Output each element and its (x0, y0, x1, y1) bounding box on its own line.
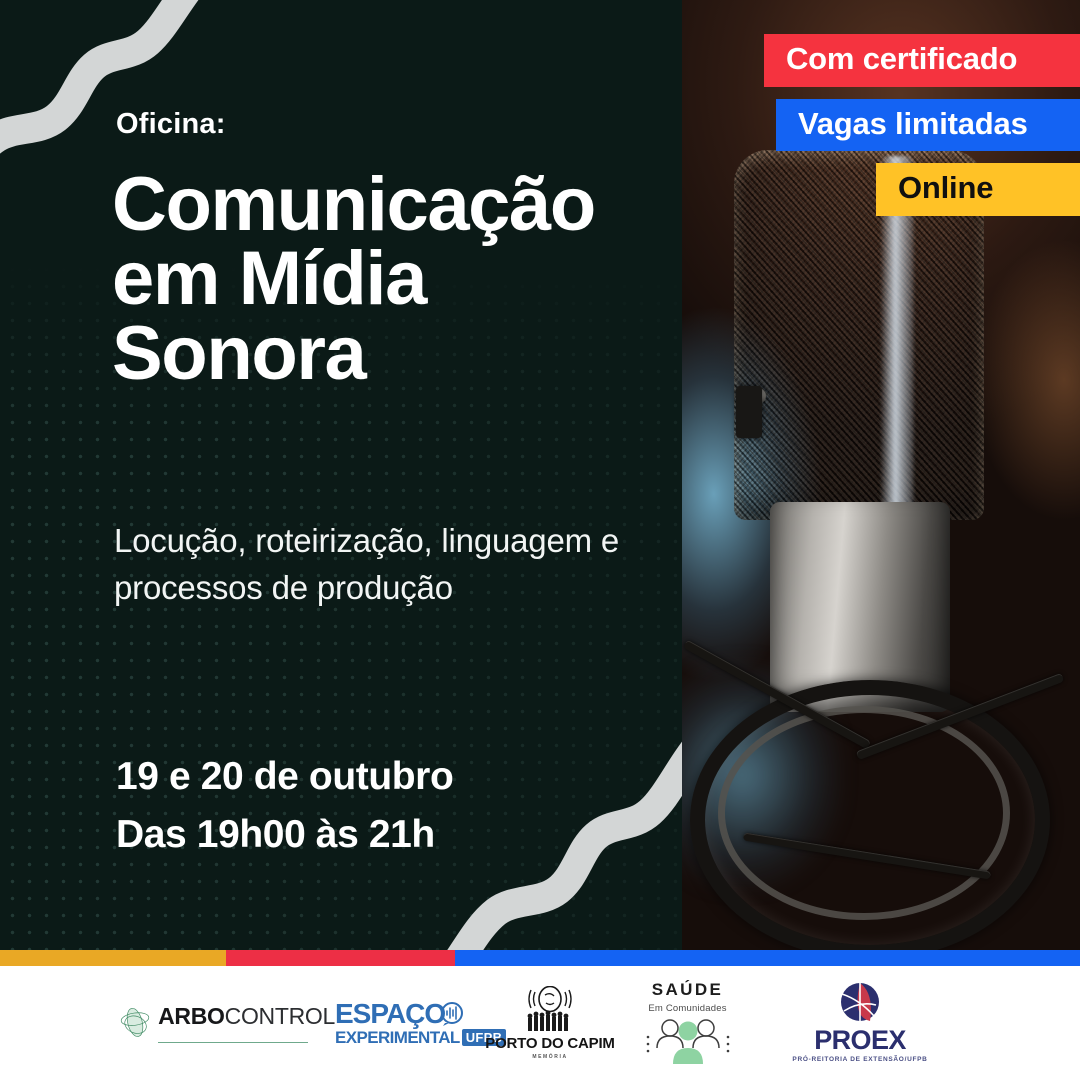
logo-espaco-experimental: ESPAÇO EXPERIMENTAL UFPB (335, 1000, 485, 1046)
poster-canvas: Oficina: Comunicação em Mídia Sonora Loc… (0, 0, 1080, 1080)
microphone-vent-slot (736, 386, 762, 438)
logo-proex: PROEX PRÓ-REITORIA DE EXTENSÃO/UFPB (760, 981, 960, 1065)
logo-porto-title: PORTO DO CAPIM (485, 1035, 614, 1052)
page-title-line-1: Comunicação (112, 168, 672, 242)
proex-globe-icon (837, 981, 883, 1025)
color-strip-red (226, 950, 455, 966)
content-panel: Oficina: Comunicação em Mídia Sonora Loc… (0, 0, 682, 950)
logo-proex-subtitle: PRÓ-REITORIA DE EXTENSÃO/UFPB (792, 1056, 927, 1065)
logo-arbocontrol-wordmark: ARBOCONTROL (158, 1003, 335, 1030)
crowd-face-icon (518, 986, 582, 1032)
event-date: 19 e 20 de outubro (116, 748, 656, 806)
color-strip (0, 950, 1080, 966)
arbo-leaf-icon (120, 992, 151, 1054)
logo-espaco-line2: EXPERIMENTAL (335, 1029, 460, 1046)
logo-arbocontrol-light: CONTROL (225, 1003, 335, 1029)
badge-list: Com certificado Vagas limitadas Online (750, 34, 1080, 216)
logo-arbocontrol-underline (158, 1034, 308, 1043)
microphone-illustration (734, 150, 1024, 710)
event-time: Das 19h00 às 21h (116, 806, 656, 864)
logo-espaco-line1: ESPAÇO (335, 1000, 445, 1028)
logo-porto-do-capim: PORTO DO CAPIM MEMÓRIA (485, 986, 615, 1060)
badge-com-certificado: Com certificado (764, 34, 1080, 87)
logo-arbocontrol: ARBOCONTROL (120, 992, 335, 1054)
page-title-line-2: em Mídia (112, 242, 672, 316)
speech-bubble-waveform-icon (439, 1002, 465, 1026)
page-title-line-3: Sonora (112, 317, 672, 391)
logo-porto-subtitle: MEMÓRIA (532, 1054, 567, 1060)
color-strip-yellow (0, 950, 226, 966)
logo-proex-title: PROEX (814, 1027, 906, 1054)
logo-saude-em-comunidades: SAÚDE Em Comunidades (615, 980, 760, 1067)
event-schedule: 19 e 20 de outubro Das 19h00 às 21h (116, 748, 656, 863)
color-strip-blue (455, 950, 1080, 966)
partner-logo-bar: ARBOCONTROL ESPAÇO (0, 966, 1080, 1080)
page-title: Comunicação em Mídia Sonora (112, 168, 672, 391)
page-subtitle: Locução, roteirização, linguagem e proce… (114, 518, 634, 612)
logo-saude-subtitle: Em Comunidades (648, 1003, 726, 1014)
badge-vagas-limitadas: Vagas limitadas (776, 99, 1080, 152)
page-kicker: Oficina: (116, 108, 226, 141)
logo-arbocontrol-bold: ARBO (158, 1003, 225, 1029)
logo-saude-title: SAÚDE (652, 980, 724, 1000)
people-group-icon (640, 1017, 736, 1067)
badge-online: Online (876, 163, 1080, 216)
